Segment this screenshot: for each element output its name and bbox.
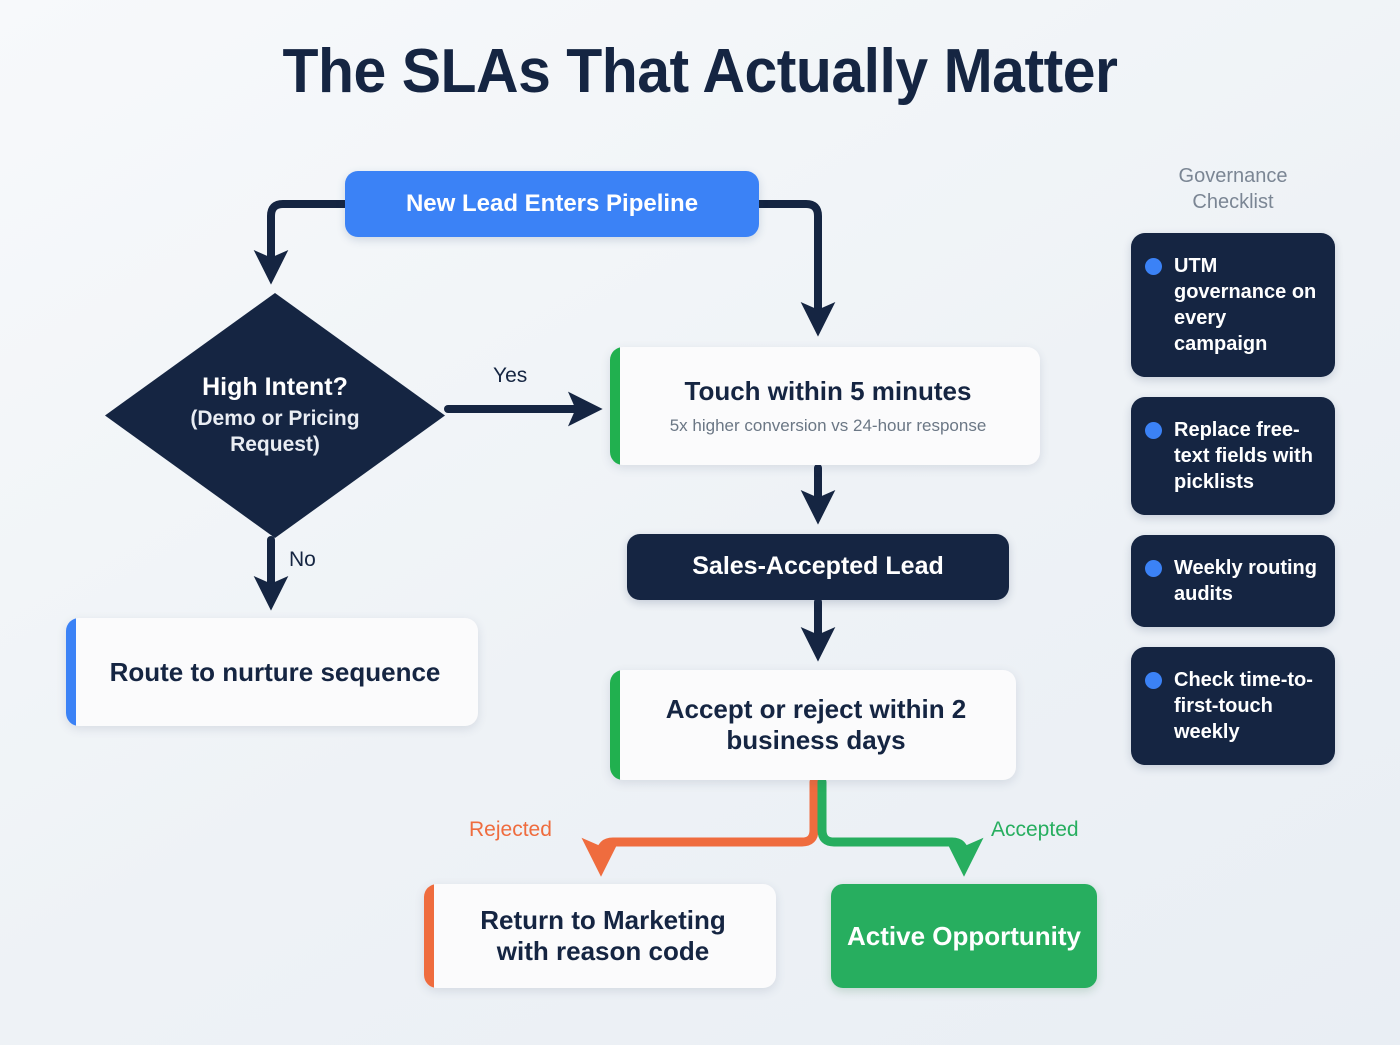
edge-label-no: No bbox=[289, 548, 316, 572]
node-sublabel: 5x higher conversion vs 24-hour response bbox=[670, 415, 987, 436]
edge-accepted bbox=[822, 782, 964, 858]
accent-bar bbox=[610, 670, 620, 780]
node-sales-accepted-lead[interactable]: Sales-Accepted Lead bbox=[627, 534, 1009, 600]
node-high-intent-decision[interactable]: High Intent? (Demo or Pricing Request) bbox=[105, 293, 445, 538]
edge-label-rejected: Rejected bbox=[469, 818, 552, 842]
bullet-dot-icon bbox=[1145, 560, 1162, 577]
checklist-item-label: Check time-to-first-touch weekly bbox=[1174, 667, 1319, 745]
node-label: New Lead Enters Pipeline bbox=[406, 190, 698, 218]
checklist-heading: Governance Checklist bbox=[1131, 164, 1335, 215]
node-label: Route to nurture sequence bbox=[110, 657, 441, 688]
node-return-to-marketing-with-reason-code[interactable]: Return to Marketing with reason code bbox=[424, 884, 776, 988]
bullet-dot-icon bbox=[1145, 672, 1162, 689]
node-accept-or-reject-within-2-business-days[interactable]: Accept or reject within 2 business days bbox=[610, 670, 1016, 780]
accent-bar bbox=[424, 884, 434, 988]
node-active-opportunity[interactable]: Active Opportunity bbox=[831, 884, 1097, 988]
edge-start-to-decision bbox=[271, 204, 345, 268]
flowchart-canvas: The SLAs That Actually Matter bbox=[0, 0, 1400, 1045]
checklist-item-label: UTM governance on every campaign bbox=[1174, 253, 1319, 357]
edge-label-accepted: Accepted bbox=[991, 818, 1079, 842]
page-title: The SLAs That Actually Matter bbox=[35, 36, 1365, 107]
node-sublabel: (Demo or Pricing Request) bbox=[143, 406, 407, 459]
node-route-to-nurture-sequence[interactable]: Route to nurture sequence bbox=[66, 618, 478, 726]
node-label: Accept or reject within 2 business days bbox=[642, 694, 990, 755]
checklist-item-label: Replace free-text fields with picklists bbox=[1174, 417, 1319, 495]
node-touch-within-5-minutes[interactable]: Touch within 5 minutes 5x higher convers… bbox=[610, 347, 1040, 465]
checklist-item[interactable]: UTM governance on every campaign bbox=[1131, 233, 1335, 377]
edge-rejected bbox=[601, 782, 814, 858]
node-label: Touch within 5 minutes bbox=[670, 376, 987, 407]
bullet-dot-icon bbox=[1145, 422, 1162, 439]
node-label: Sales-Accepted Lead bbox=[692, 552, 944, 582]
checklist-item[interactable]: Check time-to-first-touch weekly bbox=[1131, 647, 1335, 765]
accent-bar bbox=[610, 347, 620, 465]
edge-start-to-touch bbox=[759, 204, 818, 320]
governance-checklist-panel: Governance Checklist UTM governance on e… bbox=[1131, 164, 1335, 785]
edge-label-yes: Yes bbox=[493, 364, 527, 388]
node-new-lead-enters-pipeline[interactable]: New Lead Enters Pipeline bbox=[345, 171, 759, 237]
bullet-dot-icon bbox=[1145, 258, 1162, 275]
checklist-item[interactable]: Weekly routing audits bbox=[1131, 535, 1335, 627]
node-label: Return to Marketing with reason code bbox=[456, 905, 750, 966]
checklist-item[interactable]: Replace free-text fields with picklists bbox=[1131, 397, 1335, 515]
accent-bar bbox=[66, 618, 76, 726]
checklist-item-label: Weekly routing audits bbox=[1174, 555, 1319, 607]
node-label: Active Opportunity bbox=[847, 921, 1081, 952]
node-label: High Intent? bbox=[143, 373, 407, 403]
